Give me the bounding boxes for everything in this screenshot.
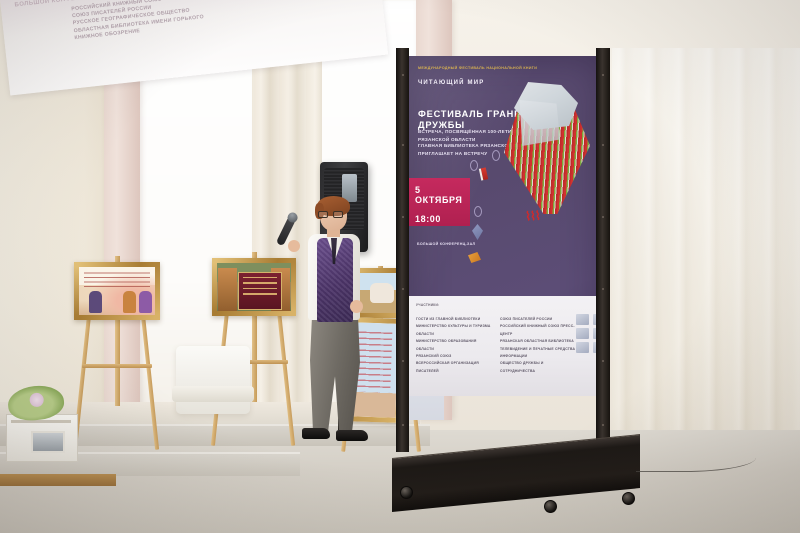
artwork-figure	[139, 291, 152, 313]
poster-date-badge: 5 ОКТЯБРЯ 18:00	[408, 178, 470, 226]
band-item: РЯЗАНСКАЯ ОБЛАСТНАЯ БИБЛИОТЕКА	[500, 338, 578, 345]
event-poster: МЕЖДУНАРОДНЫЙ ФЕСТИВАЛЬ НАЦИОНАЛЬНОЙ КНИ…	[408, 56, 604, 396]
frame-post-right	[596, 48, 610, 452]
band-item: МИНИСТЕРСТВО ОБРАЗОВАНИЯ ОБЛАСТИ	[416, 338, 494, 353]
poster-sponsor-band: УЧАСТНИКИ: ГОСТИ ИЗ ГЛАВНОЙ БИБЛИОТЕКИ М…	[408, 296, 604, 396]
banner-stand: МЕЖДУНАРОДНЫЙ ФЕСТИВАЛЬ НАЦИОНАЛЬНОЙ КНИ…	[396, 48, 636, 518]
ring-decor-icon	[470, 160, 478, 171]
poster-venue: БОЛЬШОЙ КОНФЕРЕНЦ-ЗАЛ	[417, 242, 475, 246]
band-item: МИНИСТЕРСТВО КУЛЬТУРЫ И ТУРИЗМА ОБЛАСТИ	[416, 323, 494, 338]
band-heading: УЧАСТНИКИ:	[416, 303, 440, 307]
band-item: ТЕЛЕВИДЕНИЕ И ПЕЧАТНЫЕ СРЕДСТВА ИНФОРМАЦ…	[500, 346, 578, 361]
stand-base	[392, 434, 640, 512]
sponsor-logo-icon	[576, 328, 589, 339]
curtain-right	[612, 48, 800, 478]
artwork-figure	[89, 291, 102, 313]
caster-wheel	[400, 486, 413, 499]
presenter	[286, 200, 392, 458]
ring-decor-icon	[492, 150, 500, 161]
crystal-drip-icon: ⌇⌇⌇	[525, 209, 571, 246]
sponsor-logo-icon	[576, 314, 589, 325]
projection-text-lines: РОССИЙСКИЙ КНИЖНЫЙ СОЮЗ СОЮЗ ПИСАТЕЛЕЙ Р…	[1, 0, 383, 50]
band-item: СОЮЗ ПИСАТЕЛЕЙ РОССИИ	[500, 316, 578, 323]
armchair	[176, 346, 250, 414]
presenter-left-hand	[288, 240, 300, 252]
ring-decor-icon	[474, 206, 482, 217]
band-column-left: ГОСТИ ИЗ ГЛАВНОЙ БИБЛИОТЕКИ МИНИСТЕРСТВО…	[416, 316, 494, 375]
poster-date: 5 ОКТЯБРЯ	[415, 185, 470, 205]
caster-wheel	[622, 492, 635, 505]
band-item: РОССИЙСКИЙ КНИЖНЫЙ СОЮЗ ПРЕСС-ЦЕНТР	[500, 323, 578, 338]
microwave-window-icon	[31, 431, 65, 453]
presenter-shoe-left	[302, 428, 330, 439]
artwork-side-panel	[218, 268, 237, 314]
artwork-scene	[79, 267, 155, 315]
framed-artwork-1	[74, 262, 160, 320]
presenter-trousers	[310, 316, 360, 432]
artwork-plaque	[238, 272, 282, 310]
wood-floor-trim	[0, 474, 116, 486]
frame-post-left	[396, 48, 409, 452]
easel-1	[74, 300, 162, 450]
band-column-right: СОЮЗ ПИСАТЕЛЕЙ РОССИИ РОССИЙСКИЙ КНИЖНЫЙ…	[500, 316, 578, 375]
band-item: ГОСТИ ИЗ ГЛАВНОЙ БИБЛИОТЕКИ	[416, 316, 494, 323]
band-item: РЯЗАНСКИЙ СОЮЗ	[416, 353, 494, 360]
band-item: ВСЕРОССИЙСКАЯ ОРГАНИЗАЦИЯ ПИСАТЕЛЕЙ	[416, 360, 494, 375]
poster-festival-logo: МЕЖДУНАРОДНЫЙ ФЕСТИВАЛЬ НАЦИОНАЛЬНОЙ КНИ…	[418, 66, 537, 71]
artwork-figure	[123, 291, 136, 313]
caster-wheel	[544, 500, 557, 513]
band-item: ОБЩЕСТВО ДРУЖБЫ И СОТРУДНИЧЕСТВА	[500, 360, 578, 375]
presenter-shoe-right	[336, 430, 368, 441]
crystal-balloon-graphic: ⌇⌇⌇	[500, 82, 596, 252]
glasses-icon	[318, 211, 346, 218]
artwork-scene	[217, 263, 291, 311]
poster-time: 18:00	[415, 214, 470, 224]
presenter-right-hand	[350, 300, 363, 313]
crystal-front-facet	[516, 100, 560, 146]
photo-scene: БОЛЬШОЙ КОНФЕРЕНЦ-ЗАЛ РОССИЙСКИЙ КНИЖНЫЙ…	[0, 0, 800, 533]
poster-brand-title: ЧИТАЮЩИЙ МИР	[418, 80, 484, 86]
sponsor-logo-icon	[576, 342, 589, 353]
microwave-box	[6, 414, 78, 462]
artwork-text-block	[84, 271, 150, 289]
